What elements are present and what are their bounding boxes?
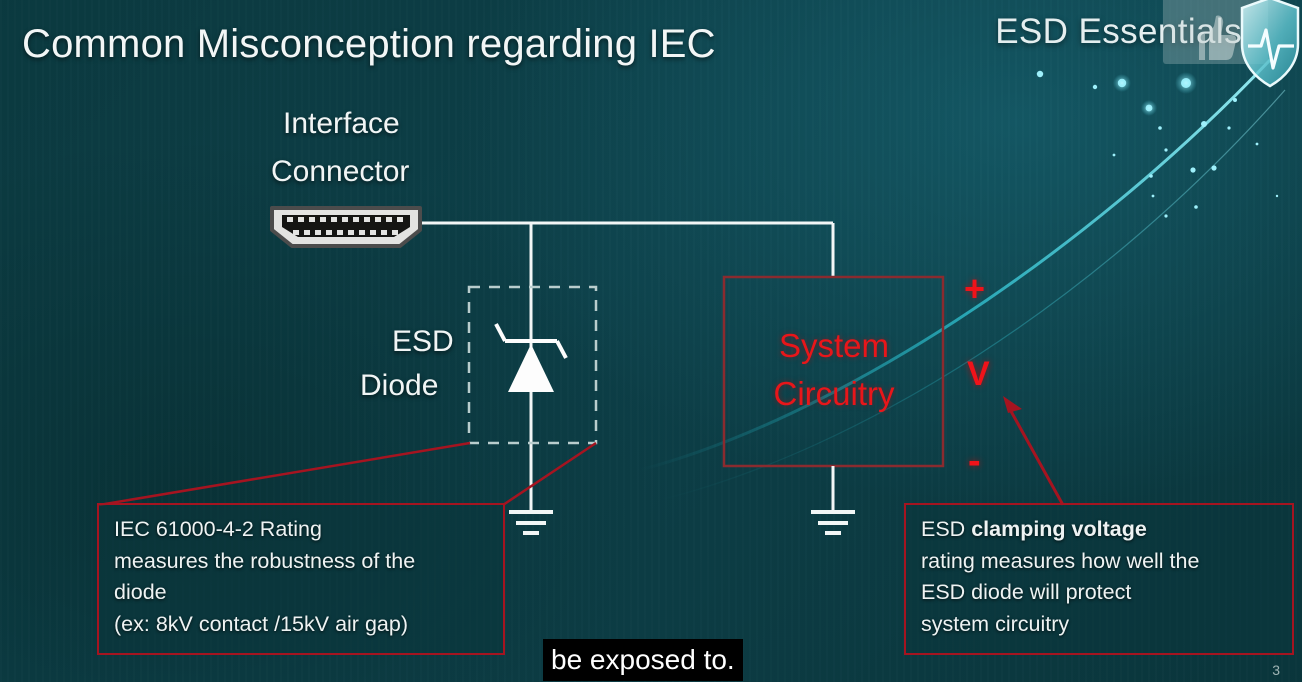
clamping-voltage-arrow [1003, 396, 1063, 505]
system-circuitry-label: System Circuitry [724, 322, 944, 418]
esd-diode-label-line2: Diode [360, 369, 438, 403]
callout-right-line1: ESD clamping voltage [921, 514, 1292, 546]
callout-left-line1: IEC 61000-4-2 Rating [114, 514, 503, 546]
callout-right-line4: system circuitry [921, 609, 1292, 641]
ground-symbol-icon [509, 512, 553, 533]
callout-right-line1-plain: ESD [921, 517, 971, 541]
callout-right-line3: ESD diode will protect [921, 577, 1292, 609]
callout-left-line3: diode [114, 577, 503, 609]
slide-canvas: Common Misconception regarding IEC ESD E… [0, 0, 1302, 682]
callout-right-line1-bold: clamping voltage [971, 517, 1147, 541]
system-circuitry-line1: System [724, 322, 944, 370]
callout-iec-rating: IEC 61000-4-2 Rating measures the robust… [97, 503, 505, 655]
callout-left-line2: measures the robustness of the [114, 546, 503, 578]
page-number: 3 [1272, 662, 1280, 678]
polarity-voltage-label: V [967, 355, 990, 394]
esd-diode-label-line1: ESD [392, 325, 454, 359]
ground-symbol-icon [811, 512, 855, 533]
hdmi-connector-icon [268, 204, 424, 250]
interface-label-line2: Connector [271, 155, 409, 189]
video-caption: be exposed to. [543, 639, 743, 681]
callout-right-line2: rating measures how well the [921, 546, 1292, 578]
polarity-minus-label: - [968, 440, 981, 483]
callout-left-line4: (ex: 8kV contact /15kV air gap) [114, 609, 503, 641]
interface-label-line1: Interface [283, 107, 400, 141]
callout-clamping-voltage: ESD clamping voltage rating measures how… [904, 503, 1294, 655]
system-circuitry-line2: Circuitry [724, 370, 944, 418]
polarity-plus-label: + [964, 268, 985, 310]
